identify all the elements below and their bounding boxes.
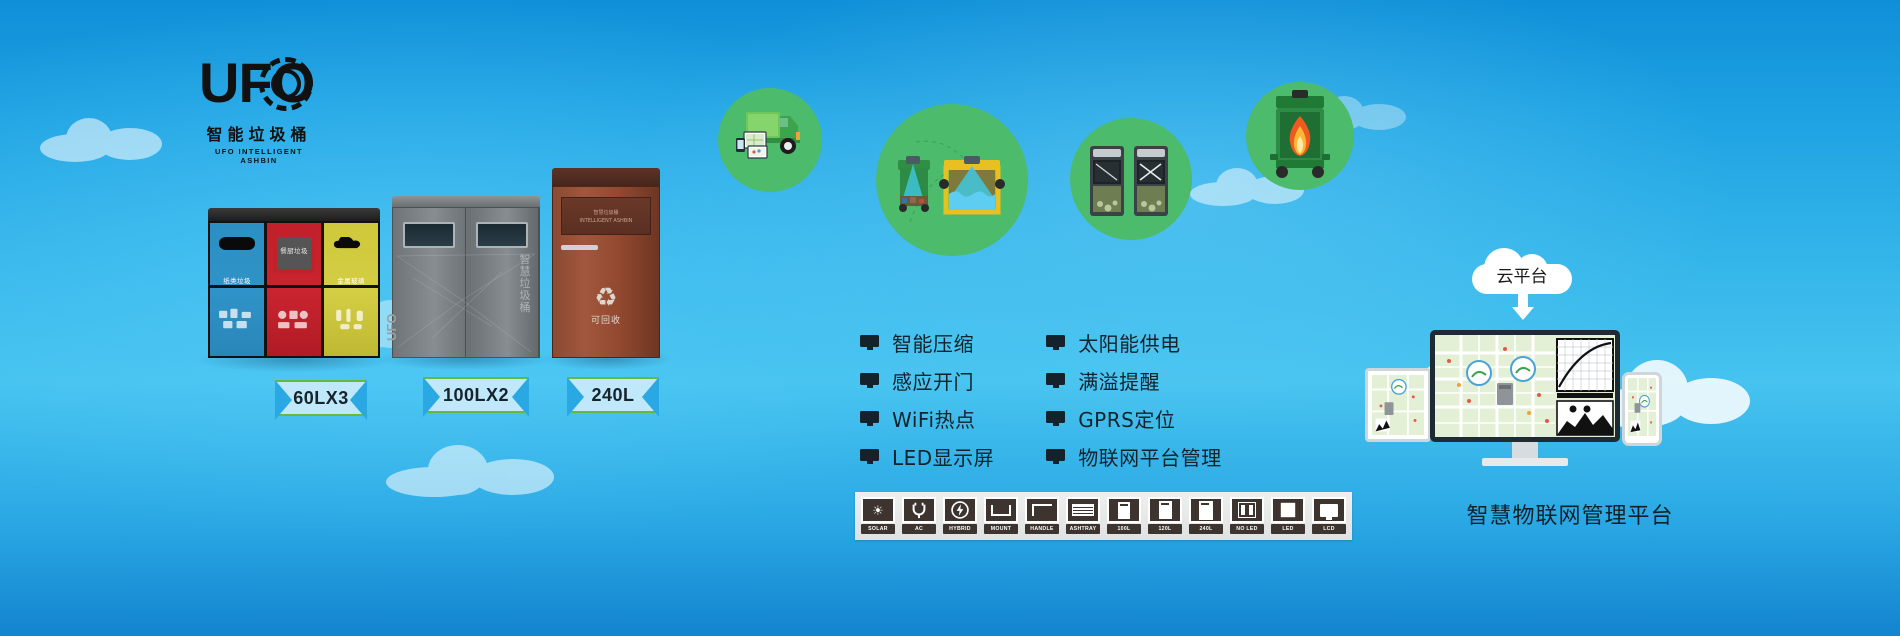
tablet-icon bbox=[1365, 368, 1431, 442]
plate-line-2: INTELLIGENT ASHBIN bbox=[562, 217, 649, 225]
capacity-banner-100lx2: 100LX2 bbox=[424, 377, 528, 413]
monitor-icon bbox=[1046, 373, 1065, 388]
bin-120l-icon bbox=[1148, 497, 1182, 523]
phone-screen-map bbox=[1628, 378, 1656, 436]
lcd-screen-icon bbox=[1312, 497, 1346, 523]
cloud-platform-label: 云平台 bbox=[1472, 248, 1572, 294]
triple-bin-unit: 纸类垃圾 餐厨垃圾 bbox=[208, 208, 380, 358]
option-caption: LCD bbox=[1312, 524, 1346, 534]
illustration-circle-fill-sensor bbox=[876, 104, 1028, 256]
bin-compartment-label: 金属玻璃 bbox=[324, 275, 378, 285]
product-banner: UFO 智能垃圾桶 UFO INTELLIGENT ASHBIN 纸类垃圾 bbox=[0, 0, 1900, 636]
bin-240l-icon bbox=[1189, 497, 1223, 523]
no-led-icon bbox=[1230, 497, 1264, 523]
option-caption: LED bbox=[1271, 524, 1305, 534]
feature-label: LED显示屏 bbox=[892, 442, 994, 471]
bin-lid bbox=[392, 196, 540, 207]
display-screen bbox=[403, 222, 455, 248]
bin-compartment-paper: 纸类垃圾 bbox=[208, 221, 265, 358]
metal-glass-waste-graphic bbox=[330, 297, 371, 341]
handle-icon bbox=[1025, 497, 1059, 523]
desktop-monitor-icon bbox=[1430, 330, 1620, 466]
feature-label: GPRS定位 bbox=[1078, 404, 1175, 433]
surface-reflection-graphic bbox=[393, 248, 539, 358]
option-caption: 120L bbox=[1148, 524, 1182, 534]
brand-logo: UFO 智能垃圾桶 UFO INTELLIGENT ASHBIN bbox=[199, 55, 319, 165]
monitor-stand-neck bbox=[1512, 442, 1538, 458]
dashboard-screen bbox=[1435, 335, 1615, 437]
bin-compartment-kitchen: 餐厨垃圾 bbox=[265, 221, 322, 358]
feature-column-left: 智能压缩 感应开门 WiFi热点 LED显示屏 bbox=[860, 328, 994, 471]
monitor-icon bbox=[1046, 335, 1065, 350]
feature-item: LED显示屏 bbox=[860, 442, 994, 471]
option-caption: MOUNT bbox=[984, 524, 1018, 534]
bin-lid bbox=[552, 168, 660, 186]
cloud-decoration bbox=[386, 445, 556, 501]
option-handle[interactable]: HANDLE bbox=[1025, 497, 1059, 535]
bin-100l-icon bbox=[1107, 497, 1141, 523]
feature-label: 感应开门 bbox=[892, 366, 974, 395]
option-240l[interactable]: 240L bbox=[1189, 497, 1223, 535]
feature-item: 智能压缩 bbox=[860, 328, 994, 357]
ufo-ring-icon bbox=[259, 57, 313, 111]
cloud-slot-icon bbox=[333, 237, 370, 250]
tablet-screen-map bbox=[1372, 375, 1424, 435]
capacity-label: 60LX3 bbox=[293, 388, 349, 409]
fill-level-sensor-icon bbox=[876, 104, 1028, 256]
kitchen-waste-graphic bbox=[273, 297, 314, 341]
option-lcd[interactable]: LCD bbox=[1312, 497, 1346, 535]
feature-label: 满溢提醒 bbox=[1078, 366, 1160, 395]
option-ac[interactable]: AC bbox=[902, 497, 936, 535]
collection-truck-with-devices-icon bbox=[718, 88, 822, 192]
two-smart-bins-icon bbox=[1070, 118, 1192, 240]
monitor-icon bbox=[1046, 449, 1065, 464]
ashtray-icon bbox=[1066, 497, 1100, 523]
feature-item: GPRS定位 bbox=[1046, 404, 1222, 433]
fire-detection-bin-icon bbox=[1246, 82, 1354, 190]
oval-slot-icon bbox=[219, 237, 256, 250]
option-led[interactable]: LED bbox=[1271, 497, 1305, 535]
option-caption: HANDLE bbox=[1025, 524, 1059, 534]
recycle-label: 可回收 bbox=[553, 313, 659, 326]
feature-label: 物联网平台管理 bbox=[1078, 442, 1222, 471]
monitor-icon bbox=[860, 449, 879, 464]
bin-compartment-label: 餐厨垃圾 bbox=[267, 245, 321, 255]
option-ashtray[interactable]: ASHTRAY bbox=[1066, 497, 1100, 535]
option-caption: SOLAR bbox=[861, 524, 895, 534]
option-caption: HYBRID bbox=[943, 524, 977, 534]
illustration-circle-fire-detection bbox=[1246, 82, 1354, 190]
monitor-stand-base bbox=[1482, 458, 1568, 466]
feature-item: 太阳能供电 bbox=[1046, 328, 1222, 357]
option-no-led[interactable]: NO LED bbox=[1230, 497, 1264, 535]
illustration-circle-truck bbox=[718, 88, 822, 192]
feature-label: WiFi热点 bbox=[892, 404, 976, 433]
cloud-decoration bbox=[40, 118, 170, 164]
panel-divider bbox=[324, 285, 378, 288]
option-caption: 100L bbox=[1107, 524, 1141, 534]
double-bin-unit: UFO 智慧垃圾桶 bbox=[392, 196, 540, 358]
option-caption: ASHTRAY bbox=[1066, 524, 1100, 534]
option-caption: 240L bbox=[1189, 524, 1223, 534]
sun-icon: ☀ bbox=[861, 497, 895, 523]
feature-item: WiFi热点 bbox=[860, 404, 994, 433]
brand-name-en: UFO INTELLIGENT ASHBIN bbox=[199, 147, 319, 165]
single-bin-unit: 智慧垃圾桶 INTELLIGENT ASHBIN ♻ 可回收 bbox=[552, 168, 660, 358]
bin-info-plate: 智慧垃圾桶 INTELLIGENT ASHBIN bbox=[561, 197, 650, 235]
feature-label: 智能压缩 bbox=[892, 328, 974, 357]
option-mount[interactable]: MOUNT bbox=[984, 497, 1018, 535]
lightning-circle-icon bbox=[943, 497, 977, 523]
option-icon-strip: ☀ SOLAR AC HYBRID MOUNT HANDLE ASHTRAY bbox=[855, 492, 1352, 540]
recycle-icon: ♻ bbox=[553, 283, 659, 311]
option-solar[interactable]: ☀ SOLAR bbox=[861, 497, 895, 535]
feature-column-right: 太阳能供电 满溢提醒 GPRS定位 物联网平台管理 bbox=[1046, 328, 1222, 471]
option-caption: AC bbox=[902, 524, 936, 534]
illustration-circle-smart-bins bbox=[1070, 118, 1192, 240]
panel-divider bbox=[267, 285, 321, 288]
bin-handle bbox=[561, 245, 597, 250]
capacity-label: 100LX2 bbox=[443, 385, 509, 406]
monitor-icon bbox=[860, 411, 879, 426]
smartphone-icon bbox=[1622, 372, 1662, 446]
platform-caption: 智慧物联网管理平台 bbox=[1430, 498, 1710, 530]
feature-item: 物联网平台管理 bbox=[1046, 442, 1222, 471]
led-panel-icon bbox=[1271, 497, 1305, 523]
feature-item: 满溢提醒 bbox=[1046, 366, 1222, 395]
monitor-icon bbox=[860, 335, 879, 350]
bin-lid bbox=[208, 208, 380, 221]
capacity-banner-240l: 240L bbox=[568, 377, 658, 413]
panel-divider bbox=[210, 285, 264, 288]
bin-compartment-label: 纸类垃圾 bbox=[210, 275, 264, 285]
capacity-label: 240L bbox=[591, 385, 634, 406]
brand-name-cn: 智能垃圾桶 bbox=[199, 121, 319, 145]
bin-compartment-metal-glass: 金属玻璃 bbox=[322, 221, 380, 358]
wall-mount-icon bbox=[984, 497, 1018, 523]
plate-line-1: 智慧垃圾桶 bbox=[562, 209, 649, 217]
capacity-banner-60lx3: 60LX3 bbox=[276, 380, 366, 416]
feature-list: 智能压缩 感应开门 WiFi热点 LED显示屏 太阳能供电 满溢提醒 bbox=[860, 328, 1222, 471]
plug-icon bbox=[902, 497, 936, 523]
option-120l[interactable]: 120L bbox=[1148, 497, 1182, 535]
cloud-platform-text: 云平台 bbox=[1472, 262, 1572, 287]
feature-item: 感应开门 bbox=[860, 366, 994, 395]
option-caption: NO LED bbox=[1230, 524, 1264, 534]
display-screen bbox=[476, 222, 528, 248]
feature-label: 太阳能供电 bbox=[1078, 328, 1181, 357]
paper-waste-graphic bbox=[216, 297, 257, 341]
monitor-icon bbox=[1046, 411, 1065, 426]
option-100l[interactable]: 100L bbox=[1107, 497, 1141, 535]
option-hybrid[interactable]: HYBRID bbox=[943, 497, 977, 535]
monitor-icon bbox=[860, 373, 879, 388]
